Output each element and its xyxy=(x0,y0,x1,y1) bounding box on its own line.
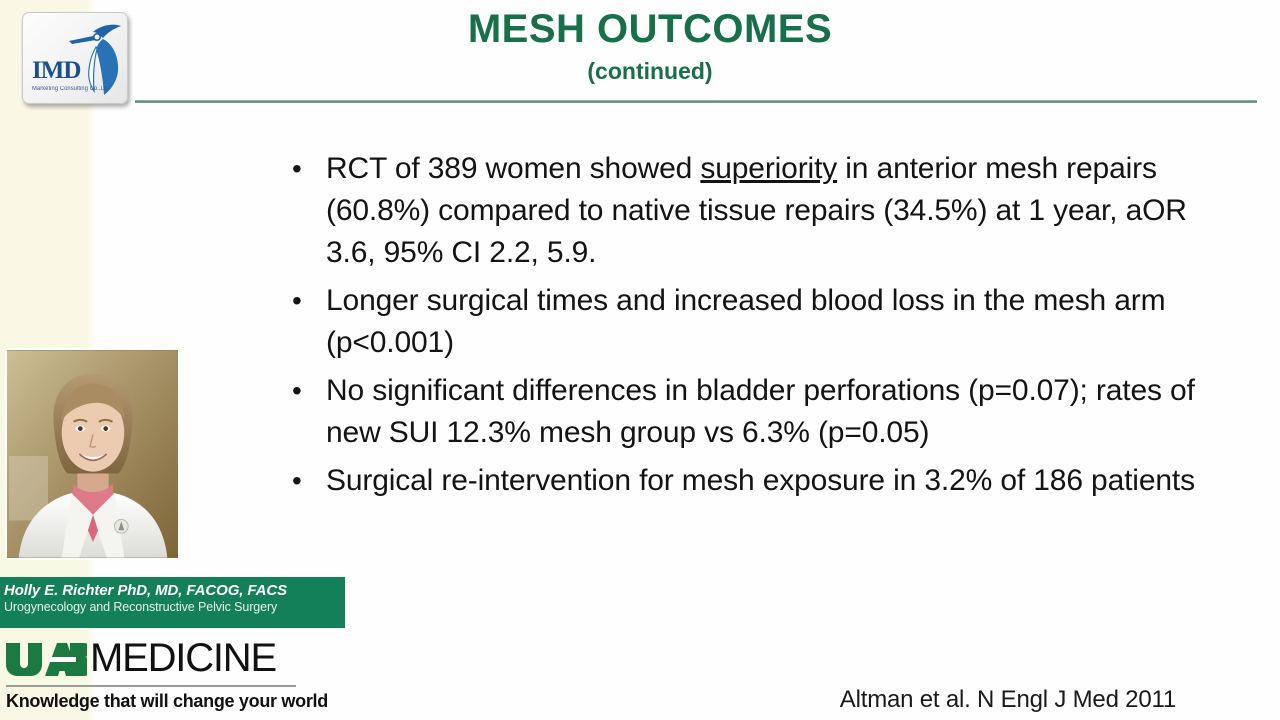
bullet-marker-icon: • xyxy=(288,370,326,412)
bullet-emphasis: superiority xyxy=(700,152,837,185)
imd-logo-wordmark: IMD xyxy=(32,58,80,83)
uab-blockmark-icon xyxy=(4,641,87,676)
slide-subtitle: (continued) xyxy=(150,58,1150,85)
bullet-text: Surgical re-intervention for mesh exposu… xyxy=(326,460,1200,502)
bullet-item: •Longer surgical times and increased blo… xyxy=(288,280,1200,364)
slide-title: MESH OUTCOMES xyxy=(150,8,1150,50)
bullet-marker-icon: • xyxy=(288,280,326,322)
bullet-segment: RCT of 389 women showed xyxy=(326,152,700,185)
uab-medicine-logo: MEDICINE Knowledge that will change your… xyxy=(4,637,304,717)
imd-logo: IMD Marketing Consulting Co.,Ltd xyxy=(22,12,128,104)
bullet-marker-icon: • xyxy=(288,148,326,190)
imd-logo-tagline: Marketing Consulting Co.,Ltd xyxy=(32,86,109,92)
presenter-photo xyxy=(5,348,180,560)
bullet-list: •RCT of 389 women showed superiority in … xyxy=(288,148,1200,508)
uab-tagline: Knowledge that will change your world xyxy=(6,691,328,712)
presenter-name-banner: Holly E. Richter PhD, MD, FACOG, FACS Ur… xyxy=(0,577,345,628)
presenter-department: Urogynecology and Reconstructive Pelvic … xyxy=(4,599,339,615)
bullet-text: RCT of 389 women showed superiority in a… xyxy=(326,148,1200,274)
bullet-segment: Longer surgical times and increased bloo… xyxy=(326,284,1165,359)
title-divider xyxy=(135,100,1257,103)
bullet-item: •No significant differences in bladder p… xyxy=(288,370,1200,454)
bullet-segment: Surgical re-intervention for mesh exposu… xyxy=(326,464,1195,497)
uab-divider xyxy=(6,685,296,687)
bullet-marker-icon: • xyxy=(288,460,326,502)
presenter-headshot-image xyxy=(7,350,178,558)
bullet-segment: No significant differences in bladder pe… xyxy=(326,374,1195,449)
bullet-item: •Surgical re-intervention for mesh expos… xyxy=(288,460,1200,502)
bullet-text: No significant differences in bladder pe… xyxy=(326,370,1200,454)
source-citation: Altman et al. N Engl J Med 2011 xyxy=(840,686,1176,714)
bullet-item: •RCT of 389 women showed superiority in … xyxy=(288,148,1200,274)
presenter-name: Holly E. Richter PhD, MD, FACOG, FACS xyxy=(4,582,339,599)
slide-canvas: IMD Marketing Consulting Co.,Ltd MESH OU… xyxy=(0,0,1280,720)
bullet-text: Longer surgical times and increased bloo… xyxy=(326,280,1200,364)
uab-wordmark: MEDICINE xyxy=(90,637,276,679)
